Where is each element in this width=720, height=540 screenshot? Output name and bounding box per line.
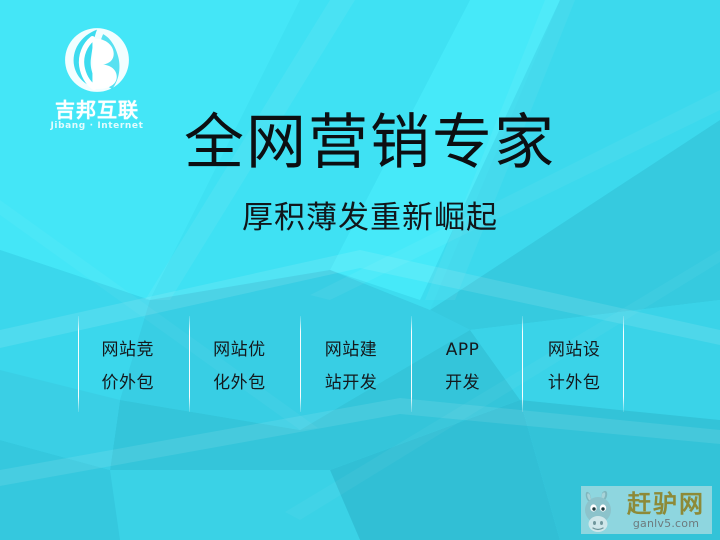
service-label-line1: APP (446, 342, 480, 359)
company-logo: 吉邦互联 Jibang · Internet (38, 22, 156, 132)
site-watermark: 赶驴网 ganlv5.com (581, 486, 712, 534)
service-item-app-development[interactable]: APP 开发 (407, 316, 519, 416)
slide-subtitle: 厚积薄发重新崛起 (160, 200, 580, 237)
logo-name-cn: 吉邦互联 (38, 100, 156, 121)
donkey-mascot-icon (582, 488, 622, 532)
service-label-line2: 化外包 (213, 375, 266, 392)
service-label-line2: 计外包 (548, 375, 601, 392)
service-list: 网站竞 价外包 网站优 化外包 网站建 站开发 APP 开发 网站设 计外包 (72, 316, 630, 416)
service-item-website-development[interactable]: 网站建 站开发 (295, 316, 407, 416)
service-label-line1: 网站设 (548, 342, 601, 359)
slide-title: 全网营销专家 (160, 112, 580, 175)
jibang-b-monogram-icon (59, 22, 135, 98)
service-label-line2: 站开发 (325, 375, 378, 392)
service-label-line2: 价外包 (102, 375, 155, 392)
watermark-name: 赶驴网 (627, 492, 705, 516)
watermark-text: 赶驴网 ganlv5.com (622, 492, 712, 529)
service-item-website-design[interactable]: 网站设 计外包 (518, 316, 630, 416)
service-label-line1: 网站建 (325, 342, 378, 359)
logo-name-en: Jibang · Internet (38, 122, 156, 132)
service-label-line1: 网站优 (213, 342, 266, 359)
service-label-line1: 网站竞 (102, 342, 155, 359)
service-item-website-optimization[interactable]: 网站优 化外包 (184, 316, 296, 416)
slide-canvas: 吉邦互联 Jibang · Internet 全网营销专家 厚积薄发重新崛起 网… (0, 0, 720, 540)
watermark-url: ganlv5.com (633, 518, 699, 529)
service-label-line2: 开发 (445, 375, 480, 392)
service-item-website-bidding[interactable]: 网站竞 价外包 (72, 316, 184, 416)
